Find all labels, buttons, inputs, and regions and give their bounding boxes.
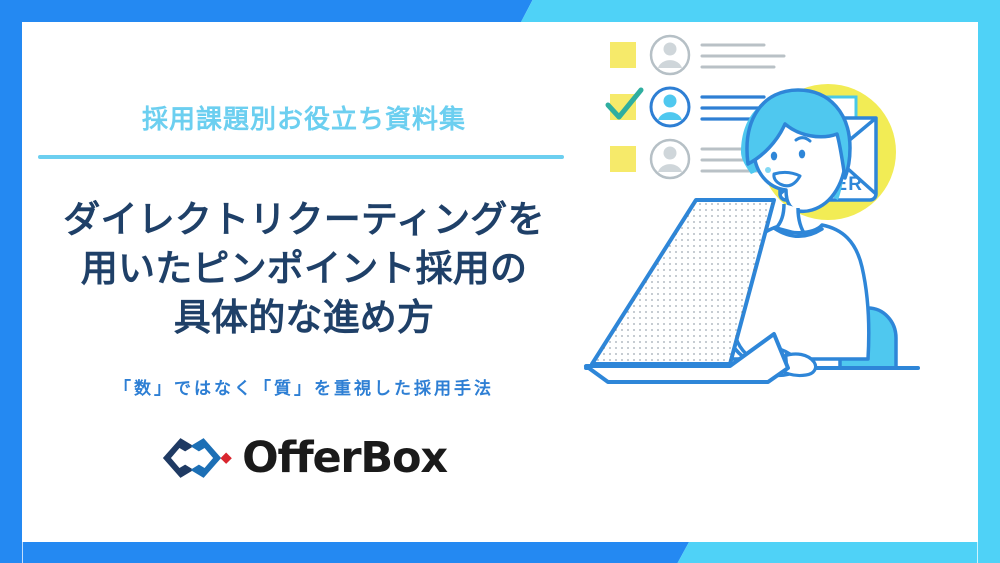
logo-wordmark: OfferBox: [242, 437, 447, 480]
headline-line-2: 用いたピンポイント採用の: [30, 245, 578, 294]
page-title: ダイレクトリクーティングを 用いたピンポイント採用の 具体的な進め方: [30, 196, 578, 342]
illustration-svg: OFFER: [578, 22, 978, 542]
checkbox-1[interactable]: [610, 42, 636, 68]
checkbox-3[interactable]: [610, 146, 636, 172]
slide-canvas: 採用課題別お役立ち資料集 ダイレクトリクーティングを 用いたピンポイント採用の …: [0, 0, 1000, 563]
eye-left: [771, 152, 777, 161]
left-band: [0, 0, 22, 563]
top-band: [0, 0, 1000, 22]
eyebrow-label: 採用課題別お役立ち資料集: [30, 106, 578, 132]
checklist-row-1: [610, 36, 784, 74]
illustration: OFFER: [578, 22, 978, 542]
eye-right: [799, 150, 805, 159]
subtitle: 「数」ではなく「質」を重視した採用手法: [30, 374, 578, 399]
offerbox-chevron-mark: [161, 436, 233, 480]
headline-line-1: ダイレクトリクーティングを: [30, 196, 578, 245]
right-band: [978, 0, 1000, 563]
brand-logo: OfferBox: [30, 428, 578, 488]
content-card: 採用課題別お役立ち資料集 ダイレクトリクーティングを 用いたピンポイント採用の …: [22, 22, 978, 542]
title-divider: [38, 155, 564, 159]
text-column: 採用課題別お役立ち資料集 ダイレクトリクーティングを 用いたピンポイント採用の …: [30, 22, 578, 542]
bottom-band: [0, 542, 1000, 563]
headline-line-3: 具体的な進め方: [30, 294, 578, 343]
